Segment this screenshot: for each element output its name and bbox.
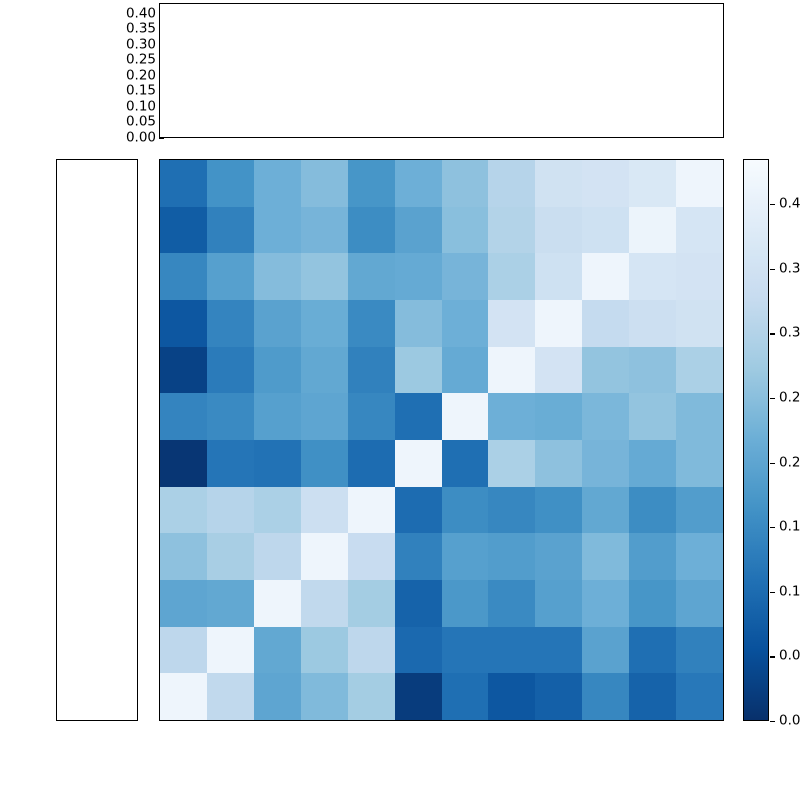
column-dendrogram bbox=[159, 3, 724, 138]
heatmap-cell-grid bbox=[160, 160, 723, 720]
heatmap-cell bbox=[629, 533, 676, 580]
heatmap-cell bbox=[629, 393, 676, 440]
colorbar bbox=[743, 159, 769, 721]
heatmap-cell bbox=[395, 160, 442, 207]
heatmap-cell bbox=[254, 253, 301, 300]
dendrogram-tick-label: 0.00 bbox=[126, 131, 156, 145]
heatmap-cell bbox=[348, 580, 395, 627]
heatmap-cell bbox=[160, 487, 207, 534]
heatmap-cell bbox=[488, 160, 535, 207]
heatmap-cell bbox=[676, 300, 723, 347]
dendrogram-tick-label: 0.40 bbox=[126, 7, 156, 21]
heatmap-cell bbox=[301, 253, 348, 300]
heatmap-cell bbox=[535, 627, 582, 674]
heatmap-cell bbox=[488, 487, 535, 534]
heatmap-cell bbox=[160, 160, 207, 207]
heatmap-cell bbox=[207, 627, 254, 674]
heatmap-cell bbox=[207, 440, 254, 487]
heatmap-cell bbox=[395, 300, 442, 347]
heatmap-cell bbox=[442, 440, 489, 487]
heatmap-cell bbox=[160, 393, 207, 440]
heatmap-cell bbox=[254, 673, 301, 720]
heatmap-cell bbox=[582, 673, 629, 720]
heatmap-cell bbox=[301, 347, 348, 394]
heatmap-cell bbox=[488, 207, 535, 254]
colorbar-tick-mark bbox=[770, 656, 775, 657]
heatmap-cell bbox=[207, 207, 254, 254]
heatmap-cell bbox=[348, 207, 395, 254]
colorbar-tick-mark bbox=[770, 398, 775, 399]
heatmap-cell bbox=[582, 253, 629, 300]
heatmap-cell bbox=[535, 300, 582, 347]
heatmap-cell bbox=[582, 347, 629, 394]
heatmap-cell bbox=[629, 673, 676, 720]
heatmap-cell bbox=[348, 253, 395, 300]
heatmap-cell bbox=[442, 533, 489, 580]
row-dendrogram-canvas bbox=[57, 160, 137, 720]
heatmap-cell bbox=[301, 627, 348, 674]
heatmap-cell bbox=[254, 347, 301, 394]
heatmap-cell bbox=[207, 533, 254, 580]
dendrogram-tick-label: 0.15 bbox=[126, 85, 156, 99]
colorbar-tick-label: 0.10 bbox=[779, 585, 800, 599]
heatmap-cell bbox=[254, 300, 301, 347]
heatmap-cell bbox=[582, 533, 629, 580]
heatmap-cell bbox=[488, 580, 535, 627]
heatmap-cell bbox=[207, 347, 254, 394]
dendrogram-tick-label: 0.10 bbox=[126, 100, 156, 114]
heatmap-cell bbox=[395, 207, 442, 254]
heatmap-cell bbox=[535, 487, 582, 534]
heatmap-cell bbox=[582, 580, 629, 627]
heatmap-cell bbox=[254, 580, 301, 627]
heatmap-cell bbox=[348, 487, 395, 534]
colorbar-tick-label: 0.15 bbox=[779, 520, 800, 534]
heatmap-cell bbox=[676, 160, 723, 207]
heatmap-cell bbox=[254, 440, 301, 487]
heatmap-cell bbox=[160, 533, 207, 580]
heatmap-cell bbox=[348, 347, 395, 394]
heatmap-cell bbox=[160, 300, 207, 347]
colorbar-tick-mark bbox=[770, 463, 775, 464]
row-dendrogram bbox=[56, 159, 138, 721]
heatmap-cell bbox=[582, 207, 629, 254]
heatmap-cell bbox=[348, 440, 395, 487]
heatmap-cell bbox=[301, 160, 348, 207]
heatmap-cell bbox=[301, 533, 348, 580]
heatmap-cell bbox=[535, 347, 582, 394]
heatmap-cell bbox=[207, 160, 254, 207]
heatmap-cell bbox=[395, 393, 442, 440]
dendrogram-tick-label: 0.30 bbox=[126, 38, 156, 52]
heatmap-cell bbox=[348, 300, 395, 347]
heatmap-cell bbox=[395, 627, 442, 674]
colorbar-tick-label: 0.00 bbox=[779, 714, 800, 728]
colorbar-tick-mark bbox=[770, 333, 775, 334]
colorbar-tick-mark bbox=[770, 592, 775, 593]
heatmap-cell bbox=[348, 533, 395, 580]
heatmap-cell bbox=[207, 673, 254, 720]
heatmap-cell bbox=[160, 347, 207, 394]
heatmap-cell bbox=[629, 487, 676, 534]
top-dendrogram-tick-labels: 0.400.350.300.250.200.150.100.050.00 bbox=[118, 0, 156, 145]
heatmap-cell bbox=[160, 253, 207, 300]
heatmap-cell bbox=[676, 207, 723, 254]
heatmap-cell bbox=[582, 627, 629, 674]
heatmap-cell bbox=[254, 207, 301, 254]
heatmap-cell bbox=[207, 300, 254, 347]
heatmap-cell bbox=[488, 253, 535, 300]
heatmap-cell bbox=[535, 673, 582, 720]
heatmap-cell bbox=[629, 160, 676, 207]
heatmap-cell bbox=[442, 300, 489, 347]
heatmap-cell bbox=[676, 580, 723, 627]
heatmap-cell bbox=[395, 347, 442, 394]
colorbar-tick-label: 0.25 bbox=[779, 391, 800, 405]
heatmap-cell bbox=[535, 253, 582, 300]
colorbar-tick-label: 0.35 bbox=[779, 262, 800, 276]
heatmap-cell bbox=[582, 160, 629, 207]
heatmap-cell bbox=[629, 347, 676, 394]
heatmap-cell bbox=[301, 673, 348, 720]
colorbar-tick-label: 0.40 bbox=[779, 197, 800, 211]
heatmap-cell bbox=[160, 580, 207, 627]
column-dendrogram-canvas bbox=[160, 4, 723, 137]
colorbar-tick-label: 0.20 bbox=[779, 456, 800, 470]
heatmap-cell bbox=[535, 393, 582, 440]
heatmap-cell bbox=[582, 393, 629, 440]
heatmap-cell bbox=[442, 253, 489, 300]
heatmap-cell bbox=[207, 580, 254, 627]
heatmap-cell bbox=[676, 487, 723, 534]
heatmap-cell bbox=[301, 487, 348, 534]
heatmap-cell bbox=[207, 253, 254, 300]
dendrogram-tick-label: 0.20 bbox=[126, 69, 156, 83]
heatmap-cell bbox=[488, 673, 535, 720]
heatmap-cell bbox=[442, 347, 489, 394]
heatmap-cell bbox=[395, 533, 442, 580]
heatmap-cell bbox=[442, 580, 489, 627]
heatmap-cell bbox=[676, 347, 723, 394]
heatmap-cell bbox=[160, 440, 207, 487]
colorbar-tick-label: 0.05 bbox=[779, 650, 800, 664]
dendrogram-tick-label: 0.25 bbox=[126, 54, 156, 68]
heatmap-cell bbox=[395, 487, 442, 534]
heatmap-cell bbox=[488, 627, 535, 674]
heatmap-cell bbox=[535, 207, 582, 254]
heatmap-cell bbox=[535, 580, 582, 627]
heatmap-cell bbox=[442, 207, 489, 254]
heatmap-cell bbox=[442, 673, 489, 720]
heatmap-cell bbox=[207, 393, 254, 440]
heatmap-cell bbox=[535, 440, 582, 487]
heatmap-cell bbox=[676, 627, 723, 674]
heatmap-cell bbox=[488, 347, 535, 394]
heatmap-cell bbox=[395, 253, 442, 300]
heatmap-cell bbox=[160, 207, 207, 254]
heatmap-cell bbox=[348, 673, 395, 720]
heatmap-cell bbox=[582, 300, 629, 347]
heatmap-cell bbox=[629, 440, 676, 487]
colorbar-tick-mark bbox=[770, 269, 775, 270]
heatmap-cell bbox=[676, 533, 723, 580]
colorbar-tick-mark bbox=[770, 204, 775, 205]
heatmap-cell bbox=[301, 300, 348, 347]
heatmap-cell bbox=[676, 393, 723, 440]
heatmap-cell bbox=[301, 393, 348, 440]
dendrogram-tick-label: 0.05 bbox=[126, 116, 156, 130]
heatmap-cell bbox=[207, 487, 254, 534]
heatmap-cell bbox=[676, 253, 723, 300]
heatmap-cell bbox=[348, 627, 395, 674]
heatmap-cell bbox=[254, 160, 301, 207]
dendrogram-tick-label: 0.35 bbox=[126, 23, 156, 37]
heatmap-cell bbox=[582, 487, 629, 534]
dendrogram-tick-mark bbox=[159, 138, 164, 139]
heatmap-cell bbox=[629, 207, 676, 254]
colorbar-tick-labels: 0.400.350.300.250.200.150.100.050.00 bbox=[770, 159, 800, 721]
colorbar-tick-label: 0.30 bbox=[779, 327, 800, 341]
colorbar-gradient bbox=[744, 160, 768, 720]
heatmap-cell bbox=[395, 673, 442, 720]
heatmap-cell bbox=[160, 673, 207, 720]
heatmap-cell bbox=[442, 627, 489, 674]
heatmap-cell bbox=[442, 160, 489, 207]
heatmap-cell bbox=[488, 393, 535, 440]
heatmap-cell bbox=[488, 440, 535, 487]
heatmap-cell bbox=[488, 533, 535, 580]
heatmap-cell bbox=[676, 440, 723, 487]
heatmap-cell bbox=[629, 253, 676, 300]
heatmap-cell bbox=[254, 393, 301, 440]
colorbar-tick-mark bbox=[770, 527, 775, 528]
heatmap-cell bbox=[442, 487, 489, 534]
heatmap-cell bbox=[582, 440, 629, 487]
heatmap-cell bbox=[629, 627, 676, 674]
heatmap-cell bbox=[254, 487, 301, 534]
heatmap-cell bbox=[348, 393, 395, 440]
heatmap-cell bbox=[301, 207, 348, 254]
heatmap-cell bbox=[254, 627, 301, 674]
heatmap-cell bbox=[254, 533, 301, 580]
heatmap-cell bbox=[395, 580, 442, 627]
heatmap-cell bbox=[301, 440, 348, 487]
heatmap-cell bbox=[442, 393, 489, 440]
heatmap-cell bbox=[395, 440, 442, 487]
heatmap bbox=[159, 159, 724, 721]
heatmap-cell bbox=[629, 580, 676, 627]
heatmap-cell bbox=[535, 533, 582, 580]
heatmap-cell bbox=[488, 300, 535, 347]
heatmap-cell bbox=[301, 580, 348, 627]
heatmap-cell bbox=[348, 160, 395, 207]
heatmap-cell bbox=[535, 160, 582, 207]
heatmap-cell bbox=[160, 627, 207, 674]
colorbar-tick-mark bbox=[770, 721, 775, 722]
heatmap-cell bbox=[629, 300, 676, 347]
heatmap-cell bbox=[676, 673, 723, 720]
